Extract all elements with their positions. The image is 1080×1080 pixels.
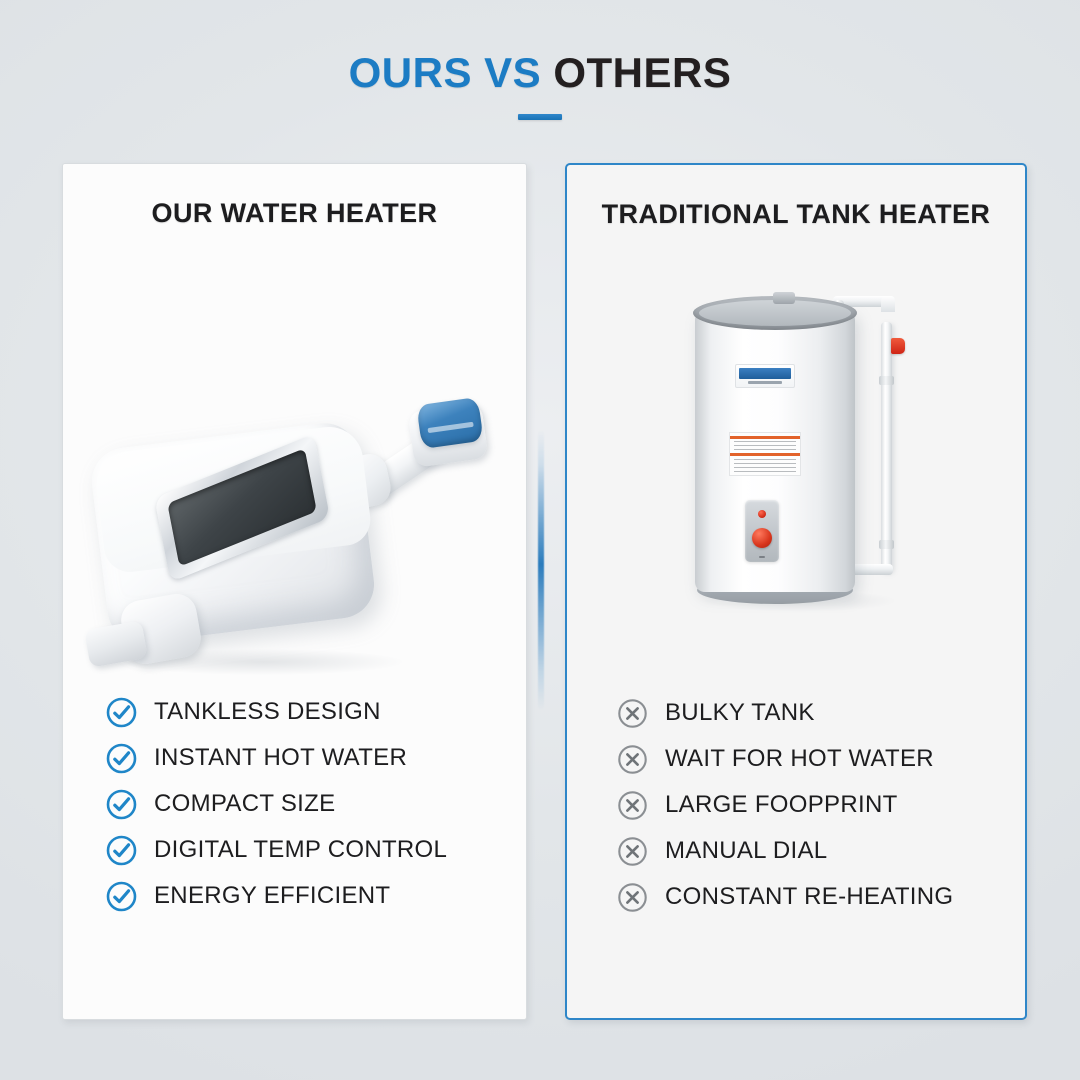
list-item: WAIT FOR HOT WATER (567, 736, 1025, 782)
manual-dial (752, 528, 772, 548)
x-circle-icon (617, 790, 648, 821)
red-valve-handle (891, 338, 905, 354)
list-item: BULKY TANK (567, 690, 1025, 736)
list-item: INSTANT HOT WATER (63, 735, 526, 781)
list-item: LARGE FOOPPRINT (567, 782, 1025, 828)
others-card-title: TRADITIONAL TANK HEATER (567, 199, 1025, 230)
others-feature-list: BULKY TANK WAIT FOR HOT WATER (567, 690, 1025, 920)
tank-top-fitting (773, 292, 795, 304)
warning-label-text-line (734, 445, 796, 446)
feature-label: INSTANT HOT WATER (154, 744, 407, 772)
ours-feature-list: TANKLESS DESIGN INSTANT HOT WATER (63, 689, 526, 919)
title-underline-accent (518, 114, 562, 120)
x-circle-icon (617, 836, 648, 867)
warning-label-text-line (734, 471, 796, 472)
warning-label-bar (730, 453, 800, 456)
pipe-coupler (879, 540, 894, 549)
tankless-water-heater-illustration (81, 399, 511, 699)
x-circle-icon (617, 882, 648, 913)
control-panel (745, 500, 779, 562)
feature-label: TANKLESS DESIGN (154, 698, 381, 726)
pipe-coupler (879, 376, 894, 385)
brand-label-text-line (748, 381, 782, 384)
warning-label-text-line (734, 441, 796, 442)
list-item: TANKLESS DESIGN (63, 689, 526, 735)
digital-display-screen (167, 448, 316, 566)
check-circle-icon (106, 789, 137, 820)
page-title: OURS VS OTHERS (0, 52, 1080, 94)
check-circle-icon (106, 881, 137, 912)
brand-label (735, 364, 795, 388)
feature-label: LARGE FOOPPRINT (665, 791, 898, 819)
others-product-image (567, 270, 1025, 740)
ours-product-image (63, 269, 526, 739)
status-indicator-light (758, 510, 766, 518)
warning-label-text-line (734, 459, 796, 460)
center-divider-accent (538, 430, 544, 710)
dial-label-line (759, 556, 765, 558)
pipe-elbow (881, 296, 895, 312)
check-circle-icon (106, 697, 137, 728)
cap-branding-stripe (428, 422, 474, 433)
x-circle-icon (617, 744, 648, 775)
check-circle-icon (106, 743, 137, 774)
feature-label: COMPACT SIZE (154, 790, 335, 818)
feature-label: WAIT FOR HOT WATER (665, 745, 934, 773)
title-highlight: OURS VS (349, 49, 554, 96)
comparison-infographic: OURS VS OTHERS OUR WATER HEATER (0, 0, 1080, 1080)
list-item: CONSTANT RE-HEATING (567, 874, 1025, 920)
list-item: COMPACT SIZE (63, 781, 526, 827)
list-item: MANUAL DIAL (567, 828, 1025, 874)
feature-label: CONSTANT RE-HEATING (665, 883, 953, 911)
feature-label: DIGITAL TEMP CONTROL (154, 836, 447, 864)
warning-label (729, 432, 801, 476)
ours-card: OUR WATER HEATER (62, 163, 527, 1020)
feature-label: BULKY TANK (665, 699, 815, 727)
check-circle-icon (106, 835, 137, 866)
ours-card-title: OUR WATER HEATER (63, 198, 526, 229)
warning-label-text-line (734, 467, 796, 468)
warning-label-bar (730, 436, 800, 439)
warning-label-text-line (734, 463, 796, 464)
list-item: ENERGY EFFICIENT (63, 873, 526, 919)
feature-label: MANUAL DIAL (665, 837, 827, 865)
traditional-tank-heater-illustration (685, 282, 935, 622)
others-card: TRADITIONAL TANK HEATER (565, 163, 1027, 1020)
side-pipe-vertical (881, 322, 892, 572)
brand-label-banner (739, 368, 791, 379)
blue-cap (416, 397, 484, 449)
list-item: DIGITAL TEMP CONTROL (63, 827, 526, 873)
feature-label: ENERGY EFFICIENT (154, 882, 390, 910)
title-rest: OTHERS (553, 49, 731, 96)
warning-label-text-line (734, 449, 796, 450)
x-circle-icon (617, 698, 648, 729)
